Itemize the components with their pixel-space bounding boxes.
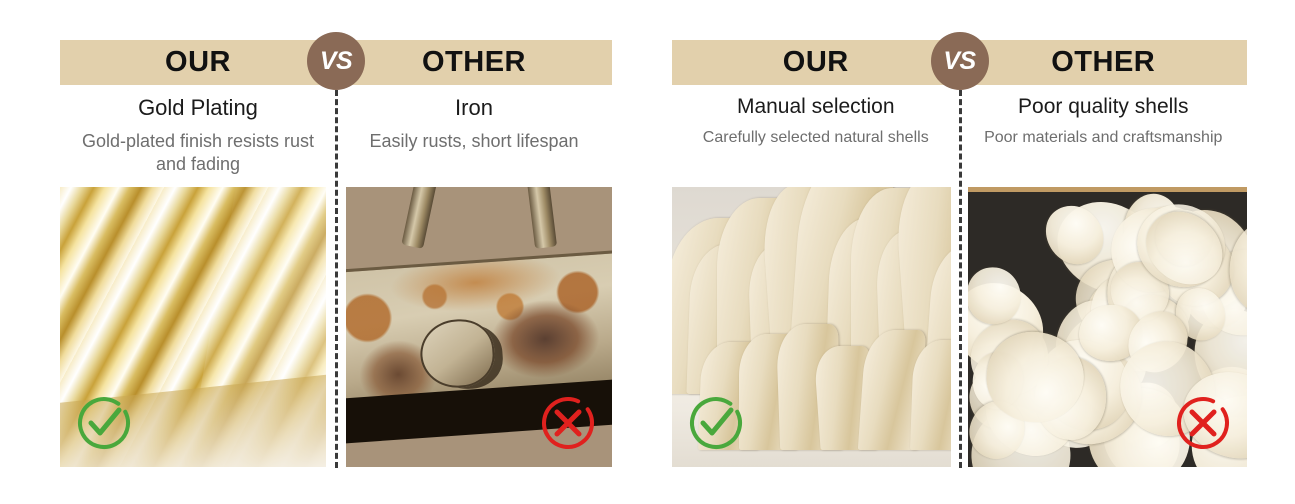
text-column-theirs: Poor quality shells Poor materials and c… [960,92,1248,184]
header-label-our: OUR [165,48,231,77]
vs-label: VS [320,49,352,74]
header-half-ours: OUR [60,48,336,77]
capiz-shell-pile-photo [968,187,1247,467]
standing-shell-strips-photo [672,187,951,467]
header-label-other: OTHER [422,48,526,77]
iron-leg-right [519,187,557,249]
rusty-iron-bracket-photo [346,187,612,467]
theirs-title: Iron [455,94,493,122]
bolt-head [419,317,498,390]
header-half-ours: OUR [672,48,960,77]
vertical-dashed-divider [335,90,338,468]
vs-label: VS [943,49,975,74]
ours-subtitle: Gold-plated finish resists rust and fadi… [78,130,318,176]
check-badge-icon [74,393,134,453]
ours-title: Manual selection [737,94,895,120]
theirs-subtitle: Easily rusts, short lifespan [369,130,578,153]
vertical-dashed-divider [959,90,962,468]
header-label-our: OUR [783,48,849,77]
ours-subtitle: Carefully selected natural shells [703,128,929,148]
header-label-other: OTHER [1051,48,1155,77]
gold-plated-rods-photo [60,187,326,467]
comparison-infographic: OUR OTHER VS Gold Plating Gold-plated fi… [0,0,1295,504]
text-column-ours: Manual selection Carefully selected natu… [672,92,960,184]
header-half-theirs: OTHER [336,48,612,77]
vs-badge: VS [307,32,365,90]
theirs-title: Poor quality shells [1018,94,1188,120]
cross-badge-icon [1173,393,1233,453]
text-column-ours: Gold Plating Gold-plated finish resists … [60,92,336,184]
vs-badge: VS [931,32,989,90]
check-badge-icon [686,393,746,453]
header-half-theirs: OTHER [960,48,1248,77]
text-column-theirs: Iron Easily rusts, short lifespan [336,92,612,184]
comparison-block-material: OUR OTHER VS Gold Plating Gold-plated fi… [60,0,612,504]
ours-title: Gold Plating [138,94,258,122]
theirs-subtitle: Poor materials and craftsmanship [984,128,1222,148]
cross-badge-icon [538,393,598,453]
comparison-block-shell: OUR OTHER VS Manual selection Carefully … [672,0,1247,504]
iron-leg-left [401,187,450,249]
photo-top-band [968,187,1247,192]
